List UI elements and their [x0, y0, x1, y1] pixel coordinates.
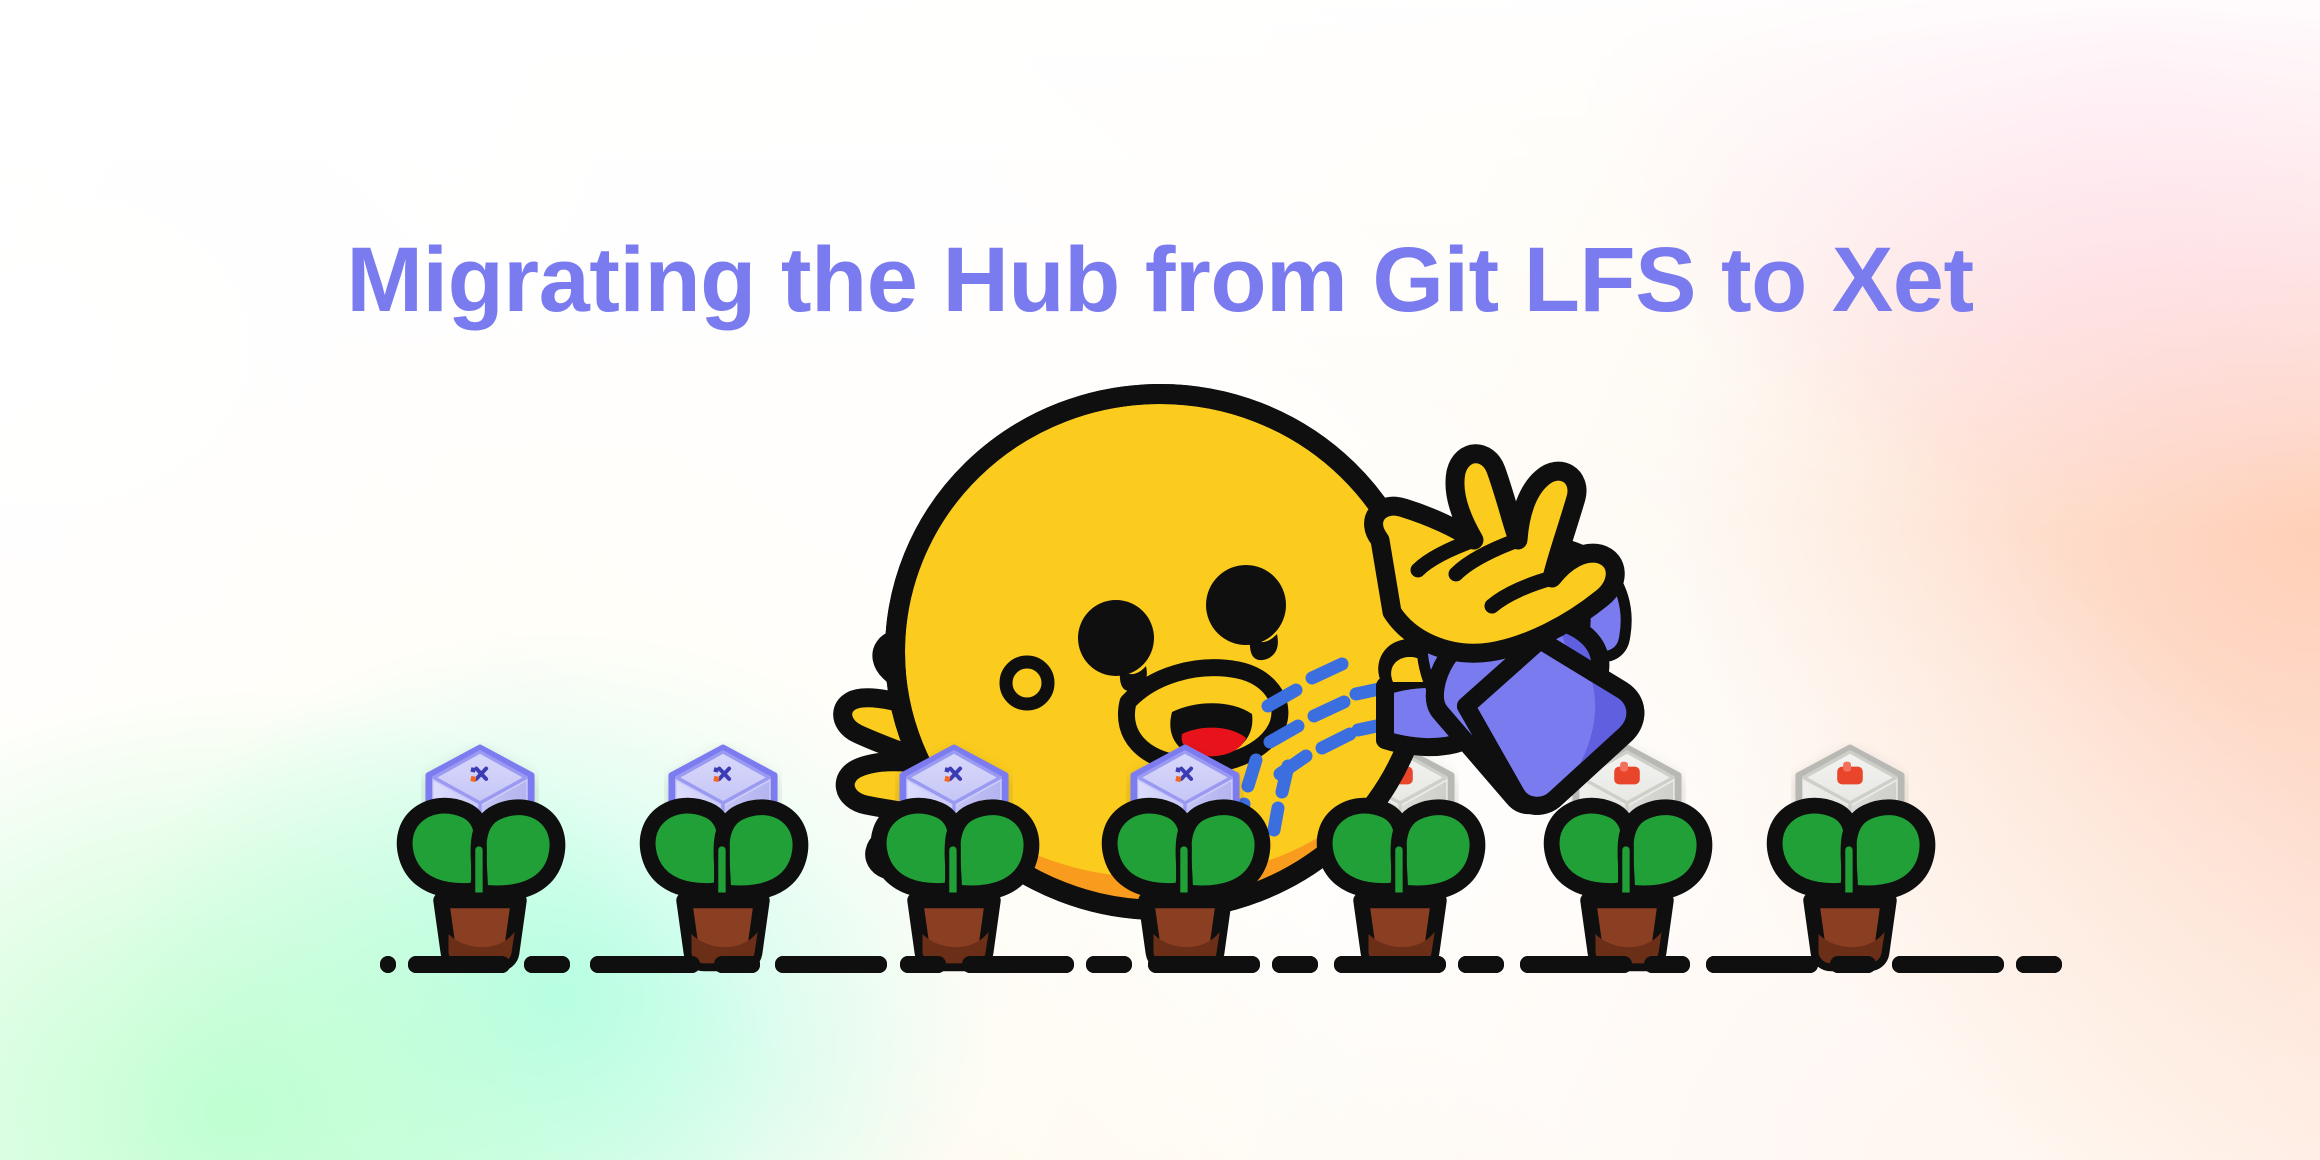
ground-dash	[775, 956, 887, 973]
seedling-icon	[879, 806, 1032, 964]
ground-dash	[1148, 956, 1260, 973]
ground-dash	[1892, 956, 2004, 973]
ground-dash	[1334, 956, 1446, 973]
ground-dash	[1706, 956, 1818, 973]
ground-dash	[590, 956, 700, 973]
seedling-icon	[1775, 806, 1928, 964]
ground-dash	[2016, 956, 2062, 973]
seedling-icon	[1552, 806, 1705, 964]
seedling-icon	[1325, 806, 1478, 964]
ground-dash	[1644, 956, 1690, 973]
ground-dash	[380, 956, 396, 973]
ground-dash	[1520, 956, 1632, 973]
seedling-icon	[405, 806, 558, 964]
right-hand-icon	[1374, 454, 1616, 653]
ground-dash	[524, 956, 570, 973]
ground-dash	[714, 956, 760, 973]
ground-dash	[900, 956, 946, 973]
ground-dash	[962, 956, 1074, 973]
seedling-icon	[648, 806, 801, 964]
banner-image: Migrating the Hub from Git LFS to Xet	[0, 0, 2320, 1160]
ground-dash	[1272, 956, 1318, 973]
illustration	[0, 0, 2320, 1160]
emoji-mouth	[1126, 668, 1279, 765]
ground-dash	[1458, 956, 1504, 973]
ground-dash	[1830, 956, 1876, 973]
seedling-icon	[1110, 806, 1263, 964]
ground-dash	[408, 956, 510, 973]
ground-dash	[1086, 956, 1132, 973]
